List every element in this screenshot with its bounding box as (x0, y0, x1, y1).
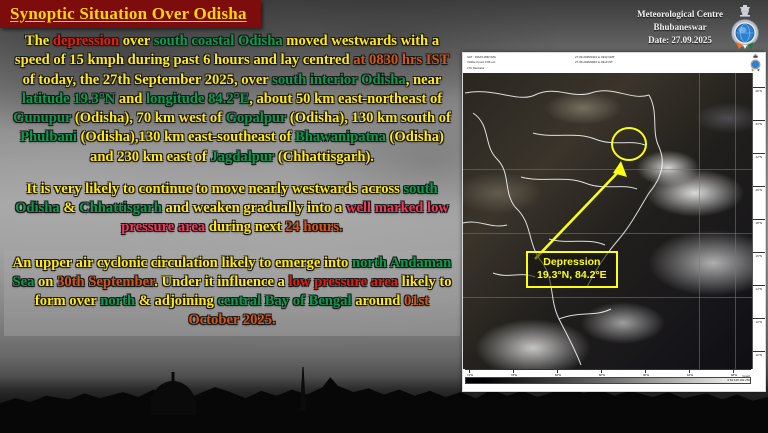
issuing-office-lines: Meteorological Centre Bhubaneswar Date: … (637, 4, 723, 47)
p2-s7: during (205, 219, 254, 235)
paragraph-depression: The depression over south coastal Odisha… (4, 32, 460, 167)
lon-tick-label: 86°E (595, 373, 609, 377)
p3-s3: on (34, 274, 57, 290)
coastline-boundaries-overlay (463, 73, 754, 369)
p1-s15: (Odisha), 70 km west of (71, 110, 225, 126)
p3-lpa: low pressure area (289, 274, 398, 290)
p1-place-phulbani: Phulbani (20, 129, 77, 145)
p1-s1: The (25, 33, 53, 49)
p1-s9: , near (406, 72, 442, 88)
paragraph-upper-air-circulation: An upper air cyclonic circulation likely… (4, 251, 460, 336)
bulletin-graphic: Synoptic Situation Over Odisha Meteorolo… (0, 0, 768, 433)
p1-region-1: south coastal Odisha (154, 33, 283, 49)
satellite-time-ist: 27-09-2025/0843 to 0913 IST (575, 60, 615, 65)
satellite-projection: LTC Mercator (467, 66, 496, 71)
p2-s5: and weaken gradually into a (162, 200, 346, 216)
p3-north: north (100, 293, 135, 309)
lon-tick-label: 94°E (683, 373, 697, 377)
satellite-meta-right: 27-09-2025/0313 to 0343 GMT 27-09-2025/0… (575, 55, 615, 66)
p1-s3: over (119, 33, 154, 49)
lat-tick-label: 26°N (756, 89, 762, 93)
lat-tick-label: 18°N (756, 221, 762, 225)
p1-longitude: longitude 84.2°E (146, 91, 249, 107)
lon-tick-label: 82°E (551, 373, 565, 377)
p1-s17: (Odisha), 130 km south of (286, 110, 451, 126)
satellite-channel: Visible Count 0.65 um (467, 60, 496, 65)
grayscale-colorbar (465, 377, 751, 384)
p2-duration: 24 hours. (281, 219, 342, 235)
p2-region-chhattisgarh: Chhattisgarh (79, 200, 162, 216)
lat-tick-label: 22°N (756, 155, 762, 159)
p1-latitude: latitude 19.3°N (22, 91, 115, 107)
p3-date-30sep: 30th September (57, 274, 154, 290)
p1-place-jagdalpur: Jagdalpur (210, 149, 274, 165)
satellite-metadata-header: SAT : INSAT-3DR IMG Visible Count 0.65 u… (463, 53, 765, 73)
colorbar-ticks: 0 64 128 192 256 (727, 378, 750, 382)
page-title: Synoptic Situation Over Odisha (10, 4, 247, 24)
lat-tick-label: 14°N (756, 287, 762, 291)
depression-circle-icon (611, 127, 647, 161)
p1-s19: (Odisha),130 km east-southeast of (77, 129, 295, 145)
p1-time: at 0830 hrs IST (353, 52, 449, 68)
bulletin-text-block: The depression over south coastal Odisha… (4, 32, 460, 336)
p1-place-gopalpur: Gopalpur (226, 110, 287, 126)
p3-s1: An upper air cyclonic circulation likely… (13, 255, 352, 271)
lon-tick-label: 90°E (639, 373, 653, 377)
lon-tick-label: 78°E (507, 373, 521, 377)
office-name: Meteorological Centre (637, 8, 723, 21)
office-city: Bhubaneswar (637, 21, 723, 34)
lat-tick-label: 20°N (756, 188, 762, 192)
colorbar-labels: Count 0 64 128 192 256 (727, 374, 750, 383)
p1-s13: , about 50 km east-northeast of (249, 91, 442, 107)
bulletin-date: Date: 27.09.2025 (637, 34, 723, 47)
p1-s23: (Chhattisgarh). (274, 149, 374, 165)
satellite-meta-left: SAT : INSAT-3DR IMG Visible Count 0.65 u… (467, 55, 496, 71)
p1-place-gunupur: Gunupur (13, 110, 71, 126)
longitude-axis: 74°E 78°E 82°E 86°E 90°E 94°E 98°E (465, 369, 751, 376)
lat-tick-label: 24°N (756, 122, 762, 126)
paragraph-forecast-track: It is very likely to continue to move ne… (4, 180, 460, 238)
p3-s9: & adjoining (135, 293, 217, 309)
p1-s7: of today, the 27th September 2025, over (23, 72, 273, 88)
title-banner: Synoptic Situation Over Odisha (0, 0, 261, 28)
p1-place-bhawanipatna: Bhawanipatna (295, 129, 386, 145)
lon-tick-label: 74°E (463, 373, 477, 377)
latitude-axis: 26°N 24°N 22°N 20°N 18°N 16°N 14°N 12°N … (752, 73, 765, 369)
issuing-office-header: Meteorological Centre Bhubaneswar Date: … (637, 4, 762, 52)
callout-title: Depression (537, 256, 607, 269)
p1-s11: and (115, 91, 146, 107)
p2-next: next (255, 219, 282, 235)
satellite-image-panel: SAT : INSAT-3DR IMG Visible Count 0.65 u… (462, 52, 766, 392)
depression-callout-label: Depression 19.3°N, 84.2°E (526, 251, 618, 288)
colorbar-wrapper: Count 0 64 128 192 256 (465, 377, 751, 384)
p2-s1: It is very likely to continue to move ne… (26, 181, 403, 197)
lat-tick-label: 16°N (756, 254, 762, 258)
lat-tick-label: 10°N (756, 353, 762, 357)
imd-emblem-icon (728, 4, 762, 52)
p2-s3: & (60, 200, 79, 216)
satellite-image-body: Depression 19.3°N, 84.2°E 26°N 24°N 22°N… (463, 73, 765, 369)
p1-region-2: south interior Odisha (272, 72, 406, 88)
callout-coordinates: 19.3°N, 84.2°E (537, 269, 607, 282)
p3-s11: around (352, 293, 404, 309)
lat-tick-label: 12°N (756, 320, 762, 324)
imd-emblem-icon (749, 54, 762, 72)
p1-depression: depression (53, 33, 119, 49)
p3-region-bay: central Bay of Bengal (217, 293, 351, 309)
p3-s5: . Under it influence a (154, 274, 288, 290)
satellite-footer: 74°E 78°E 82°E 86°E 90°E 94°E 98°E Count… (463, 369, 765, 391)
